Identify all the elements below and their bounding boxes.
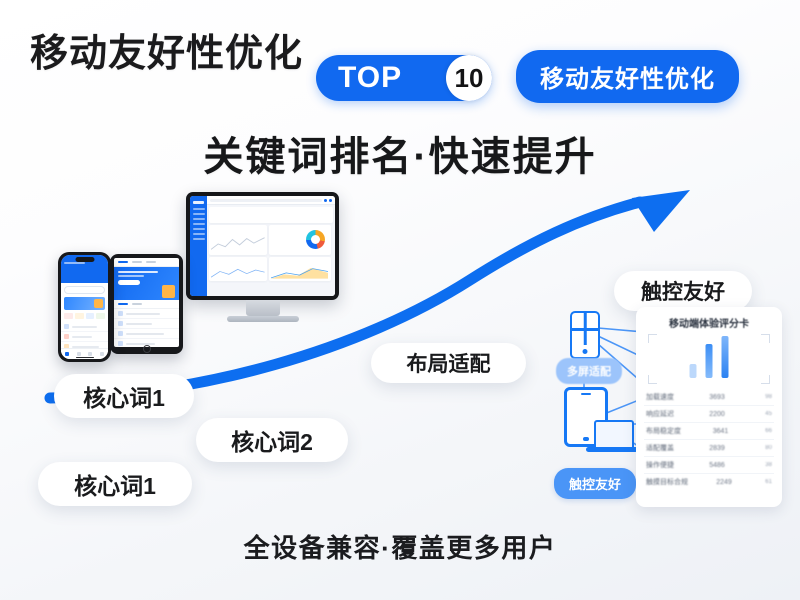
keyword-pill[interactable]: 核心词1 bbox=[54, 374, 194, 418]
score-card-chart bbox=[648, 334, 770, 384]
keyword-pill[interactable]: 核心词1 bbox=[38, 462, 192, 506]
row-value: 3641 bbox=[713, 428, 729, 435]
score-card-title: 移动端体验评分卡 bbox=[644, 315, 774, 330]
row-pct: 98 bbox=[760, 394, 772, 400]
top-badge-circle: 10 bbox=[446, 55, 492, 101]
row-label: 操作便捷 bbox=[646, 460, 674, 470]
table-row: 布局稳定度 3641 66 bbox=[644, 423, 774, 440]
feature-pill-layout[interactable]: 布局适配 bbox=[371, 343, 526, 383]
table-row: 加载速度 3693 98 bbox=[644, 389, 774, 406]
row-value: 2839 bbox=[709, 445, 725, 452]
row-label: 响应延迟 bbox=[646, 409, 674, 419]
row-pct: 45 bbox=[760, 411, 772, 417]
bar bbox=[722, 336, 729, 378]
phone-notch bbox=[75, 257, 94, 262]
donut-chart bbox=[306, 230, 325, 249]
table-row: 触摸目标合规 2249 61 bbox=[644, 474, 774, 490]
top-badge-number: 10 bbox=[455, 63, 484, 94]
phone-search-bar bbox=[64, 286, 105, 294]
row-pct: 38 bbox=[760, 462, 772, 468]
row-value: 2200 bbox=[709, 411, 725, 418]
tablet-mockup bbox=[110, 254, 183, 354]
desktop-monitor-mockup bbox=[186, 192, 339, 324]
row-value: 3693 bbox=[709, 394, 725, 401]
header-tag-pill: 移动友好性优化 bbox=[516, 50, 739, 103]
row-pct: 61 bbox=[760, 479, 772, 485]
multi-device-diagram: 多屏适配 触控友好 移动端体验评分卡 加载速度 3693 bbox=[548, 302, 784, 514]
table-row: 适配覆盖 2839 80 bbox=[644, 440, 774, 457]
table-row: 操作便捷 5486 38 bbox=[644, 457, 774, 474]
dashboard-sidebar bbox=[190, 196, 207, 296]
page-title: 移动友好性优化 bbox=[30, 22, 303, 77]
table-row: 响应延迟 2200 45 bbox=[644, 406, 774, 423]
diagram-badge-touch: 触控友好 bbox=[554, 468, 636, 499]
bar-group bbox=[690, 336, 729, 378]
score-card: 移动端体验评分卡 加载速度 3693 98 响应延迟 2200 bbox=[636, 307, 782, 507]
row-label: 触摸目标合规 bbox=[646, 477, 688, 487]
device-mockups bbox=[28, 192, 338, 392]
bar bbox=[706, 344, 713, 378]
row-pct: 66 bbox=[760, 428, 772, 434]
diagram-badge-multiscreen: 多屏适配 bbox=[556, 358, 622, 384]
row-label: 加载速度 bbox=[646, 392, 674, 402]
footer-tagline: 全设备兼容·覆盖更多用户 bbox=[0, 528, 800, 565]
row-pct: 80 bbox=[760, 445, 772, 451]
diagram-phone-icon bbox=[570, 311, 600, 359]
row-value: 5486 bbox=[709, 462, 725, 469]
top-rank-badge: TOP 10 bbox=[316, 55, 492, 101]
keyword-pill[interactable]: 核心词2 bbox=[196, 418, 348, 462]
top-badge-word: TOP bbox=[316, 61, 414, 95]
smartphone-mockup bbox=[58, 252, 111, 362]
row-label: 适配覆盖 bbox=[646, 443, 674, 453]
poster-canvas: 移动友好性优化 TOP 10 移动友好性优化 关键词排名·快速提升 bbox=[0, 0, 800, 600]
row-label: 布局稳定度 bbox=[646, 426, 681, 436]
score-card-rows: 加载速度 3693 98 响应延迟 2200 45 布局稳定度 3641 66 … bbox=[644, 389, 774, 490]
bar bbox=[690, 364, 697, 378]
row-value: 2249 bbox=[716, 479, 732, 486]
diagram-laptop-base bbox=[586, 447, 638, 452]
